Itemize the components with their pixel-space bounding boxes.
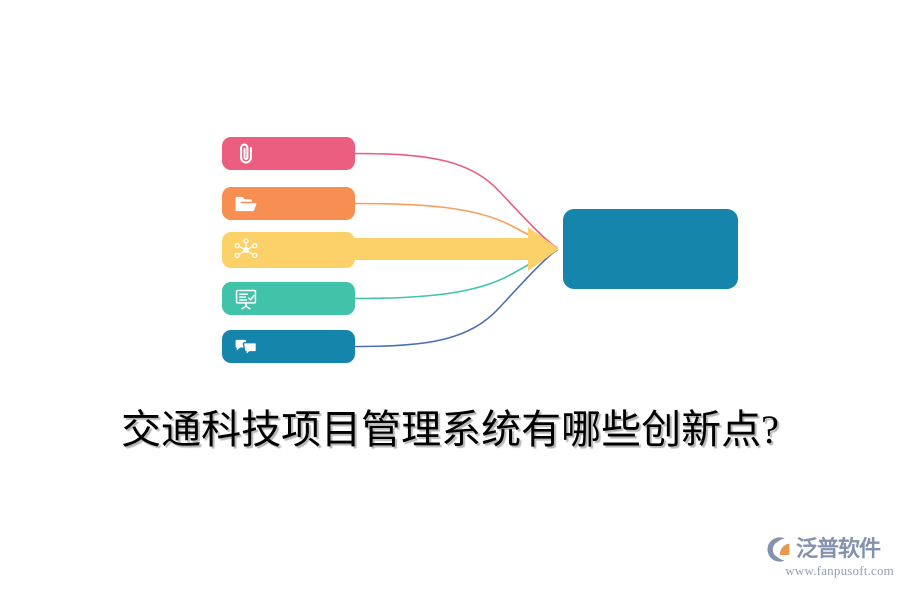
watermark-url: www.fanpusoft.com [766, 563, 894, 579]
page-title: 交通科技项目管理系统有哪些创新点? [0, 403, 900, 457]
chat-bubbles-icon [233, 334, 259, 360]
folder-open-icon [233, 191, 259, 217]
flow-node-folder[interactable] [222, 187, 355, 220]
flow-node-chat[interactable] [222, 330, 355, 363]
screenshot-canvas: 交通科技项目管理系统有哪些创新点? 泛普软件 www.fanpusoft.com [0, 0, 900, 600]
brand-watermark: 泛普软件 www.fanpusoft.com [766, 534, 894, 582]
paperclip-icon [233, 141, 259, 167]
watermark-row: 泛普软件 [766, 534, 894, 564]
connector-lines [0, 0, 900, 400]
flow-node-paperclip[interactable] [222, 137, 355, 170]
presentation-board-icon [233, 286, 259, 312]
target-result-box[interactable] [563, 209, 738, 289]
converging-flow-diagram [0, 0, 900, 400]
flow-node-presentation[interactable] [222, 282, 355, 315]
fanpu-logo-icon [766, 535, 795, 564]
watermark-brand: 泛普软件 [796, 535, 880, 564]
network-hub-icon [233, 237, 259, 263]
flow-node-network[interactable] [222, 232, 355, 268]
